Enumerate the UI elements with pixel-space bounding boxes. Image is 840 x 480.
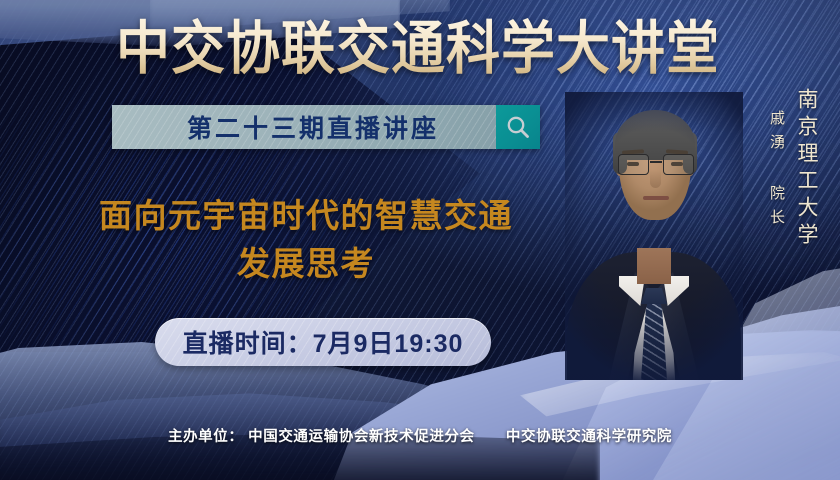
episode-label: 第二十三期直播讲座 <box>112 105 496 149</box>
footer-organizer-2: 中交协联交通科学研究院 <box>506 429 672 445</box>
live-lecture-poster: 中交协联交通科学大讲堂 第二十三期直播讲座 面向元宇宙时代的智慧交通 发展思考 … <box>0 0 840 480</box>
broadcast-time-badge: 直播时间：7月9日19:30 <box>155 318 491 366</box>
episode-banner: 第二十三期直播讲座 <box>112 105 540 149</box>
lecture-headline: 面向元宇宙时代的智慧交通 发展思考 <box>46 192 566 288</box>
footer-organizer-1: 中国交通运输协会新技术促进分会 <box>248 429 475 445</box>
portrait-edge-vignette <box>565 92 743 380</box>
footer-organizers: 主办单位： 中国交通运输协会新技术促进分会 中交协联交通科学研究院 <box>0 425 840 446</box>
headline-line-2: 发展思考 <box>46 240 566 288</box>
headline-line-1: 面向元宇宙时代的智慧交通 <box>46 192 566 240</box>
speaker-portrait <box>565 92 743 380</box>
speaker-organization: 南京理工大学 <box>792 88 822 250</box>
footer-prefix: 主办单位： <box>168 429 244 445</box>
speaker-name-and-title: 戚湧 院长 <box>767 110 788 233</box>
page-title: 中交协联交通科学大讲堂 <box>116 16 716 82</box>
search-icon-tile[interactable] <box>496 105 540 149</box>
search-icon <box>505 114 531 140</box>
